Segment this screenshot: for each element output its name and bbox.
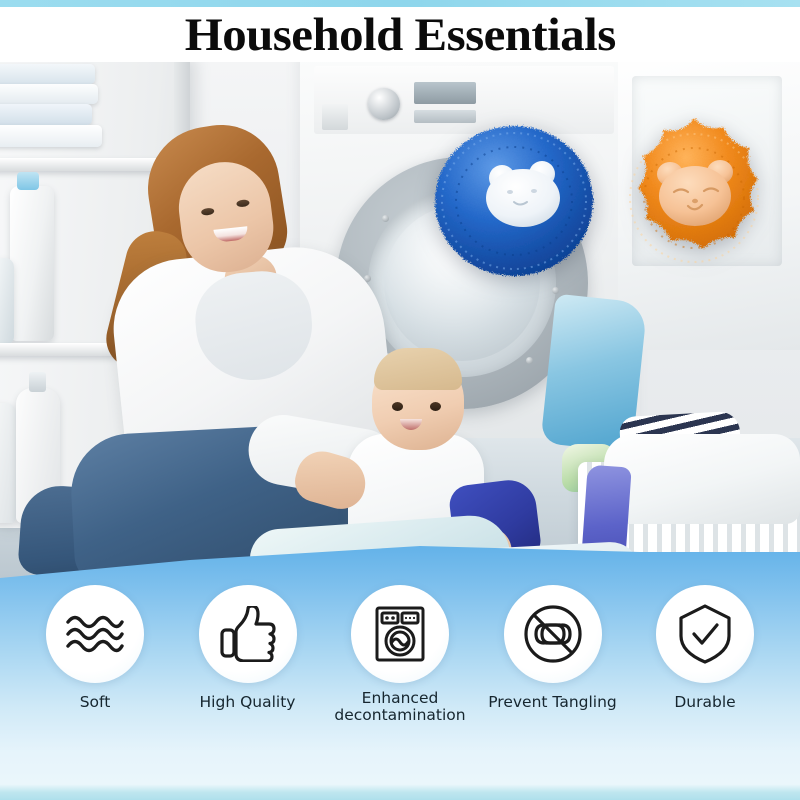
feature-label: High Quality — [200, 694, 296, 711]
baby-hair — [374, 348, 462, 390]
feature-label: Soft — [80, 694, 111, 711]
thumbs-up-icon — [219, 606, 277, 662]
feature-item-soft: Soft — [20, 585, 170, 711]
product-marketing-image: Household Essentials — [0, 0, 800, 800]
baby-eye — [392, 402, 403, 411]
page-title: Household Essentials — [184, 12, 615, 59]
feature-item-enhanced-decontamination: Enhanced decontamination — [325, 585, 475, 725]
lion-face — [659, 166, 731, 226]
feature-icon-badge — [656, 585, 754, 683]
orange-lint-catcher-ball — [608, 112, 780, 284]
baby-eye — [430, 402, 441, 411]
feature-label: Enhanced decontamination — [334, 690, 465, 725]
detergent-bottle — [10, 186, 54, 341]
feature-item-high-quality: High Quality — [173, 585, 323, 711]
feature-item-durable: Durable — [630, 585, 780, 711]
feature-icon-badge — [46, 585, 144, 683]
title-bar: Household Essentials — [0, 7, 800, 63]
feature-item-prevent-tangling: Prevent Tangling — [478, 585, 628, 711]
feature-list: Soft High Quality — [0, 585, 800, 745]
woman-eye — [201, 207, 215, 216]
shield-check-icon — [677, 603, 733, 665]
door-bolt — [526, 357, 533, 364]
detergent-drawer — [322, 104, 348, 130]
folded-towel — [0, 125, 102, 147]
folded-towel — [0, 104, 92, 125]
lion-nose — [692, 199, 698, 203]
basket-clothes — [604, 434, 800, 524]
door-bolt — [382, 215, 389, 222]
folded-towel — [0, 84, 98, 104]
top-accent-strip — [0, 0, 800, 7]
blue-lint-catcher-ball — [432, 122, 596, 280]
detergent-bottle — [0, 403, 16, 523]
bear-face — [486, 169, 560, 227]
feature-label: Durable — [674, 694, 735, 711]
feature-icon-badge — [504, 585, 602, 683]
program-dial-icon — [368, 88, 400, 120]
waves-icon — [64, 610, 126, 658]
feature-icon-badge — [351, 585, 449, 683]
machine-display — [414, 82, 476, 104]
woman-eye — [236, 199, 250, 208]
folded-towel — [0, 64, 95, 84]
no-tangle-icon — [522, 603, 584, 665]
bear-eye — [507, 190, 513, 194]
feature-label: Prevent Tangling — [488, 694, 617, 711]
feature-icon-badge — [199, 585, 297, 683]
detergent-bottle — [0, 258, 14, 344]
bear-eye — [531, 189, 537, 193]
washing-machine-icon — [373, 605, 427, 663]
door-bolt — [552, 287, 559, 294]
